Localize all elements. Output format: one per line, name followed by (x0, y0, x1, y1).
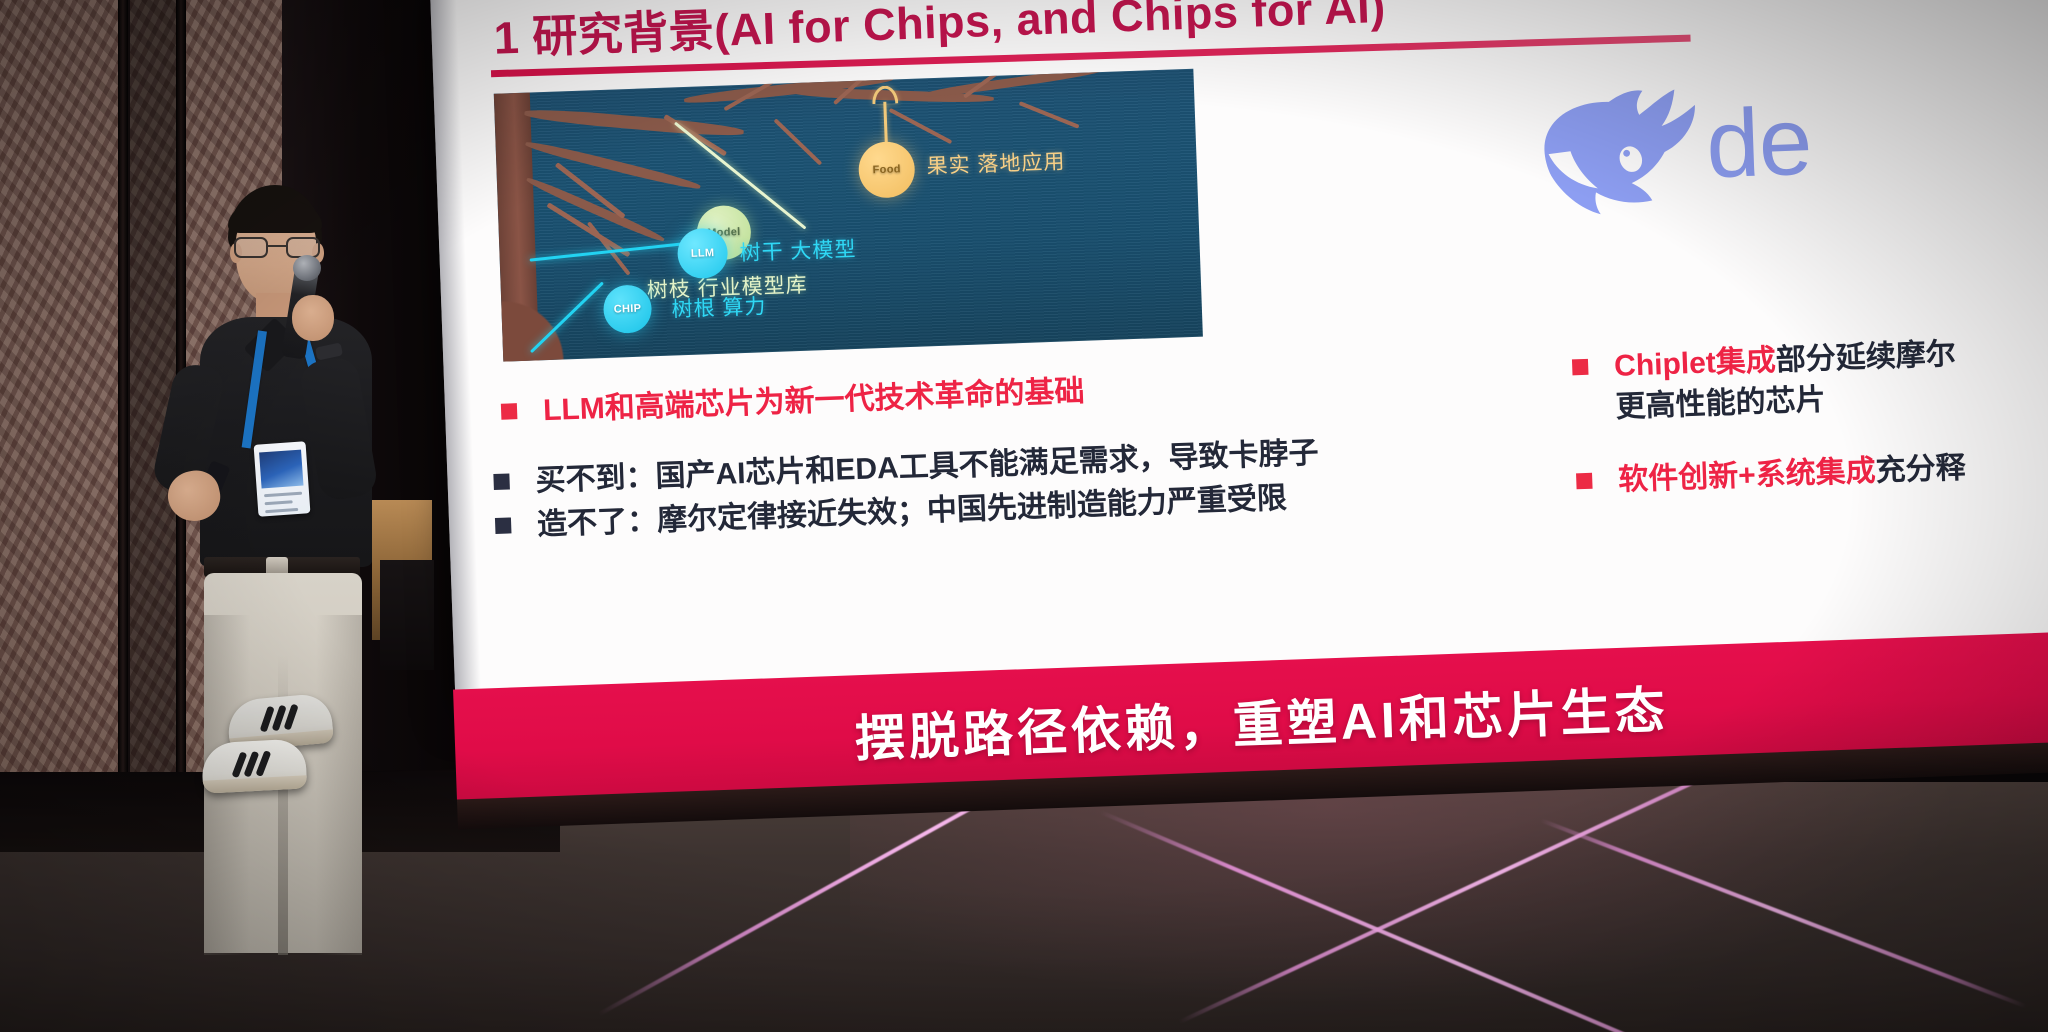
bullet-text-emphasis: Chiplet集成 (1614, 344, 1777, 383)
conference-badge (254, 441, 311, 516)
leg-shading (316, 615, 362, 955)
bullet-marker-dark (493, 473, 510, 490)
fruit-label: 果实 落地应用 (926, 145, 1066, 180)
bullet-marker-red (1576, 473, 1593, 490)
bullet-text-emphasis: 软件创新+系统集成 (1618, 455, 1877, 497)
speaker-hand-right (292, 295, 334, 341)
wall-seam (118, 0, 128, 880)
tree-trunk-base (501, 289, 577, 362)
floor-glow (850, 782, 2048, 1032)
shoe-front (201, 738, 307, 793)
glasses-lens-left (234, 237, 268, 258)
bullet-right-1: Chiplet集成部分延续摩尔 更高性能的芯片 (1572, 334, 1958, 430)
microphone-head (293, 255, 321, 281)
bullet-right-2: 软件创新+系统集成充分释 (1576, 447, 1967, 502)
bullet-text: LLM和高端芯片为新一代技术革命的基础 (542, 371, 1085, 432)
badge-line (265, 500, 293, 505)
projection-screen: 1 研究背景(AI for Chips, and Chips for AI) (430, 0, 2048, 789)
wall-panel-left (0, 0, 118, 880)
deepseek-logo: de (1524, 50, 2048, 229)
bullet-text: 部分延续摩尔 (1775, 338, 1956, 377)
bullet-marker-dark (495, 517, 512, 534)
trunk-label: 树干 大模型 (739, 233, 857, 267)
conference-photo-scene: 1 研究背景(AI for Chips, and Chips for AI) (0, 0, 2048, 1032)
badge-line (264, 492, 302, 498)
banner-text: 摆脱路径依赖，重塑AI和芯片生态 (854, 670, 1670, 771)
badge-line (265, 508, 298, 513)
bullet-marker-red (1572, 359, 1589, 376)
slide-surface: 1 研究背景(AI for Chips, and Chips for AI) (430, 0, 2048, 718)
tree-diagram-panel: Model 树枝 行业模型库 Food 果实 落地应用 LLM 树干 大模型 C… (494, 69, 1203, 362)
deepseek-wordmark: de (1704, 87, 1813, 201)
badge-photo (259, 450, 303, 489)
whale-icon (1524, 62, 1729, 219)
bullet-text: 充分释 (1875, 451, 1966, 487)
bullet-left-1: LLM和高端芯片为新一代技术革命的基础 (500, 371, 1085, 433)
root-label: 树根 算力 (671, 290, 767, 323)
bullet-marker-red (501, 403, 518, 420)
speaker-figure (170, 185, 400, 815)
glasses-bridge (268, 245, 286, 247)
